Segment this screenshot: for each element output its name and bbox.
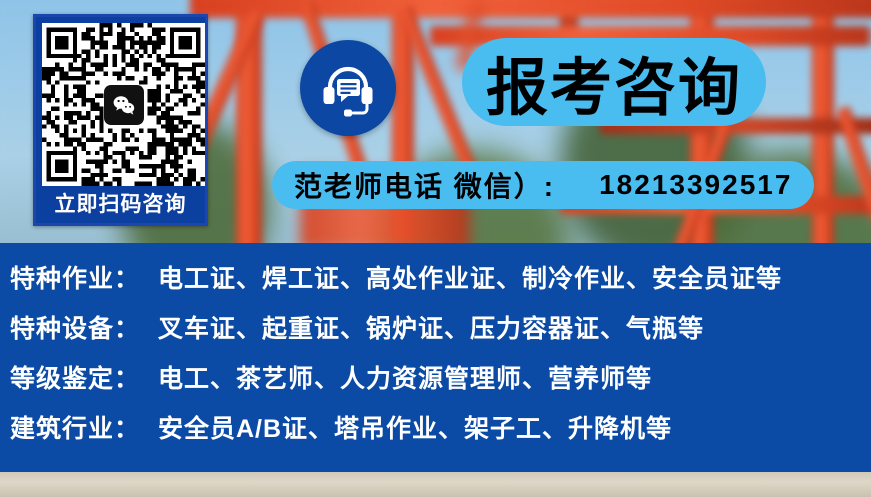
headline-pill: 报考咨询	[462, 38, 766, 126]
category-row: 建筑行业： 安全员A/B证、塔吊作业、架子工、升降机等	[0, 409, 871, 459]
headset-support-icon	[300, 40, 396, 136]
category-row: 等级鉴定： 电工、茶艺师、人力资源管理师、营养师等	[0, 359, 871, 409]
qr-caption: 立即扫码咨询	[42, 186, 199, 223]
category-label: 特种作业：	[10, 259, 158, 295]
wechat-icon	[104, 85, 144, 125]
category-value: 叉车证、起重证、锅炉证、压力容器证、气瓶等	[158, 309, 704, 345]
qr-card[interactable]: 立即扫码咨询	[33, 14, 208, 226]
contact-phone-number[interactable]: 18213392517	[599, 169, 792, 201]
category-value: 安全员A/B证、塔吊作业、架子工、升降机等	[158, 409, 672, 445]
headline-text: 报考咨询	[486, 37, 742, 127]
category-row: 特种设备： 叉车证、起重证、锅炉证、压力容器证、气瓶等	[0, 309, 871, 359]
qr-code-image[interactable]	[42, 23, 205, 186]
category-label: 等级鉴定：	[10, 359, 158, 395]
promotional-poster: 立即扫码咨询 报考咨询 范老师电话 微信）: 18213392517	[0, 0, 871, 497]
crane-member	[190, 0, 871, 18]
photo-footer-strip	[0, 472, 871, 497]
course-categories-panel: 特种作业： 电工证、焊工证、高处作业证、制冷作业、安全员证等 特种设备： 叉车证…	[0, 243, 871, 472]
contact-pill[interactable]: 范老师电话 微信）: 18213392517	[272, 161, 814, 209]
category-label: 特种设备：	[10, 309, 158, 345]
category-value: 电工、茶艺师、人力资源管理师、营养师等	[158, 359, 652, 395]
contact-label: 范老师电话 微信）:	[294, 165, 555, 205]
category-row: 特种作业： 电工证、焊工证、高处作业证、制冷作业、安全员证等	[0, 259, 871, 309]
category-value: 电工证、焊工证、高处作业证、制冷作业、安全员证等	[158, 259, 782, 295]
category-label: 建筑行业：	[10, 409, 158, 445]
